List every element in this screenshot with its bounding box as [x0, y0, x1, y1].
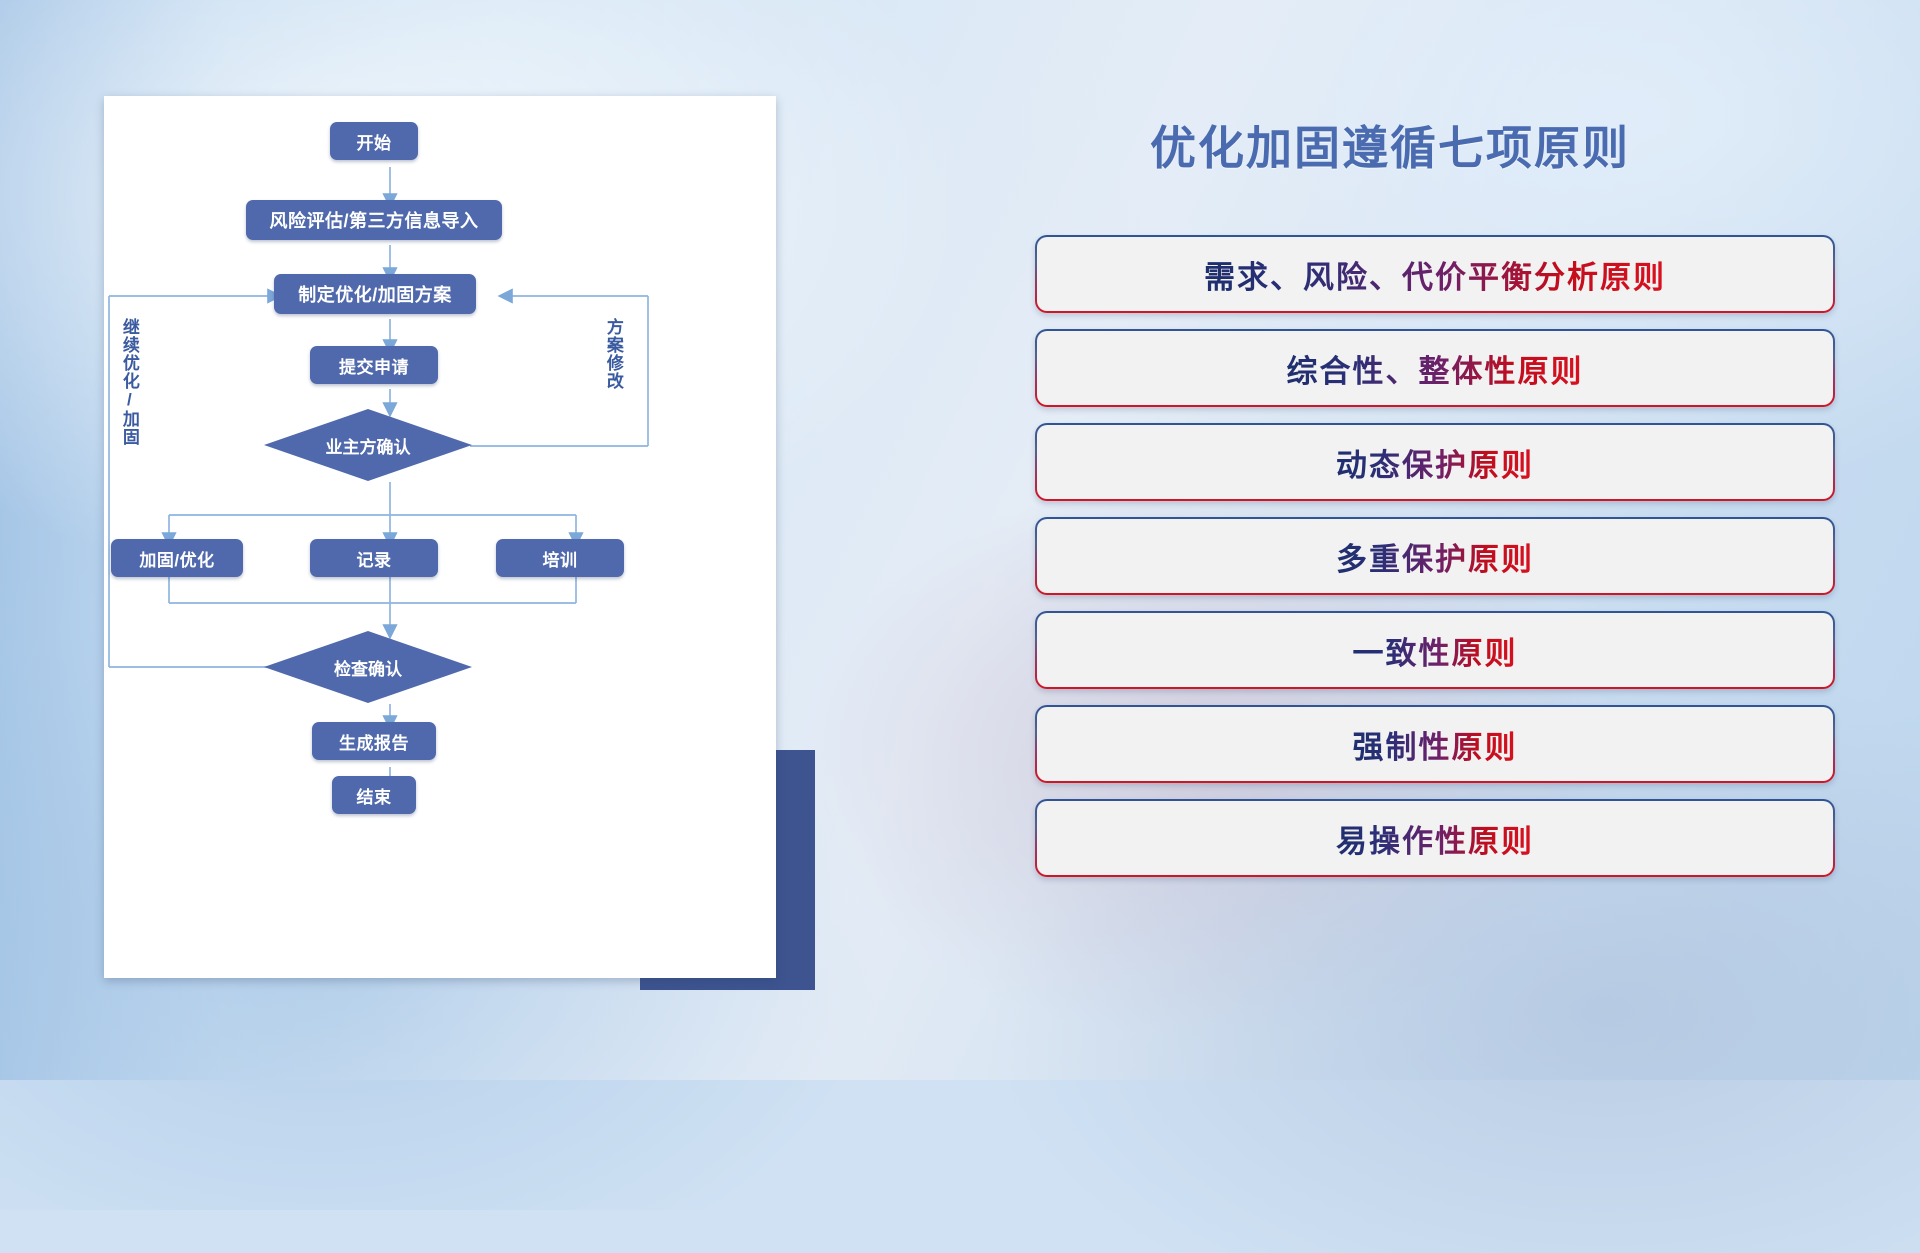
- principle-card-inner: 多重保护原则: [1037, 519, 1833, 593]
- principle-label: 综合性、整体性原则: [1287, 346, 1584, 391]
- principle-card-4[interactable]: 多重保护原则: [1035, 517, 1835, 595]
- flow-node-end[interactable]: 结束: [332, 776, 416, 814]
- flow-edge-label-plan-revision: 方案修改: [604, 318, 622, 428]
- flow-node-owner-confirm[interactable]: 业主方确认: [264, 409, 472, 481]
- principle-card-3[interactable]: 动态保护原则: [1035, 423, 1835, 501]
- flow-node-submit-application[interactable]: 提交申请: [310, 346, 438, 384]
- page-title: 优化加固遵循七项原则: [1150, 112, 1630, 178]
- principle-card-7[interactable]: 易操作性原则: [1035, 799, 1835, 877]
- principle-card-inner: 动态保护原则: [1037, 425, 1833, 499]
- flow-node-reinforce-optimize[interactable]: 加固/优化: [111, 539, 243, 577]
- principles-panel: 优化加固遵循七项原则 需求、风险、代价平衡分析原则 综合性、整体性原则 动态保护…: [1010, 0, 1920, 1080]
- flow-node-owner-confirm-label: 业主方确认: [264, 409, 472, 481]
- principle-card-inner: 一致性原则: [1037, 613, 1833, 687]
- principle-label: 动态保护原则: [1336, 440, 1534, 485]
- principle-card-inner: 易操作性原则: [1037, 801, 1833, 875]
- principles-list: 需求、风险、代价平衡分析原则 综合性、整体性原则 动态保护原则 多重保护原则 一…: [1035, 235, 1835, 893]
- flow-node-plan[interactable]: 制定优化/加固方案: [274, 274, 476, 314]
- flow-node-risk-assessment[interactable]: 风险评估/第三方信息导入: [246, 200, 502, 240]
- principle-label: 多重保护原则: [1336, 534, 1534, 579]
- flow-node-training[interactable]: 培训: [496, 539, 624, 577]
- flow-node-generate-report[interactable]: 生成报告: [312, 722, 436, 760]
- flow-node-check-confirm-label: 检查确认: [264, 631, 472, 703]
- principle-card-2[interactable]: 综合性、整体性原则: [1035, 329, 1835, 407]
- principle-card-inner: 综合性、整体性原则: [1037, 331, 1833, 405]
- principle-label: 易操作性原则: [1336, 816, 1534, 861]
- principle-label: 需求、风险、代价平衡分析原则: [1204, 252, 1666, 297]
- flow-node-check-confirm[interactable]: 检查确认: [264, 631, 472, 703]
- principle-card-inner: 强制性原则: [1037, 707, 1833, 781]
- flowchart-panel: 开始 风险评估/第三方信息导入 制定优化/加固方案 提交申请 业主方确认 加固/…: [0, 0, 820, 1080]
- principle-label: 强制性原则: [1353, 722, 1518, 767]
- flow-edge-label-continue-optimize: 继续优化/加固: [120, 318, 138, 468]
- flow-node-start[interactable]: 开始: [330, 122, 418, 160]
- principle-card-6[interactable]: 强制性原则: [1035, 705, 1835, 783]
- principle-card-5[interactable]: 一致性原则: [1035, 611, 1835, 689]
- principle-label: 一致性原则: [1353, 628, 1518, 673]
- principle-card-inner: 需求、风险、代价平衡分析原则: [1037, 237, 1833, 311]
- principle-card-1[interactable]: 需求、风险、代价平衡分析原则: [1035, 235, 1835, 313]
- flow-node-record[interactable]: 记录: [310, 539, 438, 577]
